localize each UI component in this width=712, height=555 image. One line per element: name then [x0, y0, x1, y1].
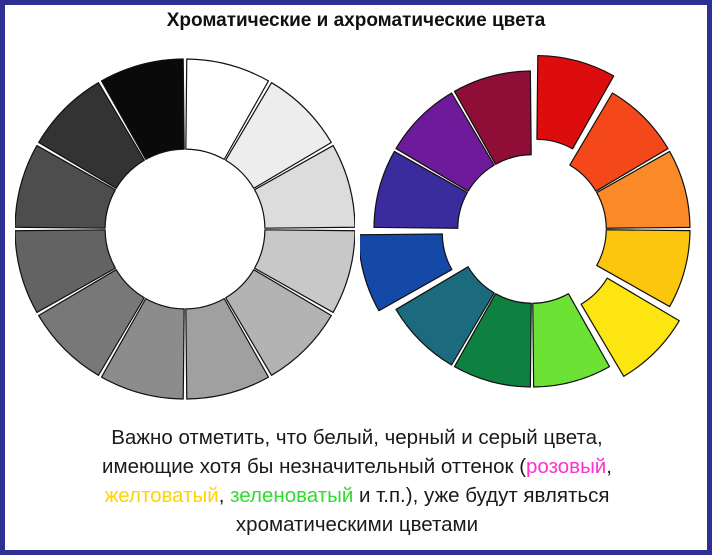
slide-root: Хроматические и ахроматические цвета Важ… — [0, 0, 712, 555]
caption-line-4: хроматическими цветами — [236, 513, 478, 536]
caption-line-3b: и т.п.), уже будут являться — [353, 484, 609, 507]
caption-line-2a: имеющие хотя бы незначительный оттенок ( — [102, 455, 526, 478]
caption-text: Важно отметить, что белый, черный и серы… — [13, 423, 701, 539]
caption-comma-1: , — [606, 455, 612, 478]
caption-word-yellow: желтоватый — [105, 484, 219, 507]
caption-word-pink: розовый — [526, 455, 606, 478]
caption-line-1: Важно отметить, что белый, черный и серы… — [111, 426, 603, 449]
achromatic-color-wheel — [15, 43, 355, 415]
page-title: Хроматические и ахроматические цвета — [5, 10, 707, 32]
caption-word-green: зеленоватый — [230, 484, 353, 507]
chromatic-color-wheel — [360, 43, 710, 415]
caption-comma-2: , — [219, 484, 230, 507]
